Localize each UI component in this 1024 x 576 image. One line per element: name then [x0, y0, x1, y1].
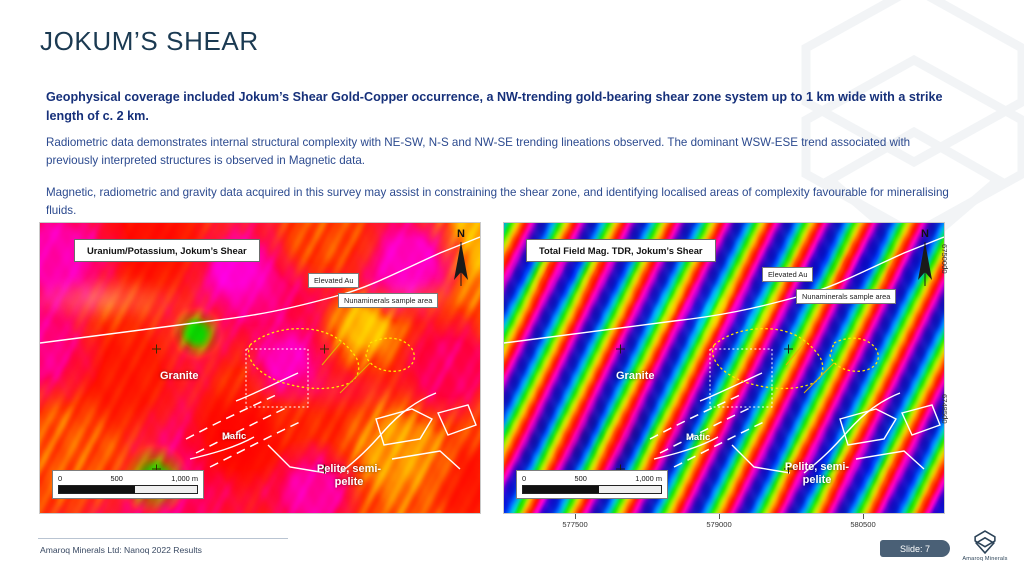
map-y-axis: 6750000 6748500 [943, 222, 967, 514]
map-title-label-left: Uranium/Potassium, Jokum’s Shear [74, 239, 260, 262]
y-tick-2: 6748500 [940, 394, 949, 424]
map-title-label-right: Total Field Mag. TDR, Jokum’s Shear [526, 239, 716, 262]
figure-radiometric: Uranium/Potassium, Jokum’s Shear Elevate… [39, 222, 479, 514]
scale-start-left: 0 [58, 474, 62, 483]
map-radiometric[interactable]: Uranium/Potassium, Jokum’s Shear Elevate… [39, 222, 481, 514]
annotation-elevated-au-left: Elevated Au [308, 273, 359, 288]
slide-number-badge: Slide: 7 [880, 540, 950, 557]
footer-text: Amaroq Minerals Ltd: Nanoq 2022 Results [40, 545, 202, 555]
x-tick-2: 579000 [706, 520, 731, 529]
scale-bar-left: 0 500 1,000 m [52, 470, 204, 499]
body-paragraph-1: Radiometric data demonstrates internal s… [46, 134, 956, 170]
scale-end-right: 1,000 m [635, 474, 662, 483]
body-paragraph-2: Magnetic, radiometric and gravity data a… [46, 184, 956, 220]
x-tick-3: 580500 [850, 520, 875, 529]
geo-label-mafic-left: Mafic [222, 430, 246, 443]
y-tick-1: 6750000 [940, 244, 949, 274]
geo-label-mafic-right: Mafic [686, 431, 710, 444]
page-title: JOKUM’S SHEAR [40, 26, 259, 57]
lead-paragraph: Geophysical coverage included Jokum’s Sh… [46, 88, 946, 126]
geo-label-pelite-right: Pelite, semi-pelite [776, 461, 858, 487]
x-tick-1: 577500 [562, 520, 587, 529]
map-x-axis: 577500 579000 580500 [503, 514, 943, 538]
north-arrow-left: N [448, 229, 474, 291]
scale-mid-right: 500 [575, 474, 587, 483]
map-magnetic[interactable]: Total Field Mag. TDR, Jokum’s Shear Elev… [503, 222, 945, 514]
annotation-elevated-au-right: Elevated Au [762, 267, 813, 282]
geo-label-granite-left: Granite [160, 370, 199, 383]
amaroq-logo-icon [972, 529, 998, 555]
amaroq-logo: Amaroq Minerals [955, 529, 1015, 569]
north-label-left: N [457, 229, 465, 240]
scale-start-right: 0 [522, 474, 526, 483]
annotation-nunaminerals-right: Nunaminerals sample area [796, 289, 896, 304]
annotation-nunaminerals-left: Nunaminerals sample area [338, 293, 438, 308]
scale-end-left: 1,000 m [171, 474, 198, 483]
north-label-right: N [921, 229, 929, 240]
slide-root: JOKUM’S SHEAR Geophysical coverage inclu… [0, 0, 1024, 576]
footer-divider [38, 538, 288, 539]
geo-label-granite-right: Granite [616, 370, 655, 383]
scale-bar-right: 0 500 1,000 m [516, 470, 668, 499]
north-arrow-right: N [912, 229, 938, 291]
logo-text: Amaroq Minerals [962, 556, 1007, 562]
figure-magnetic: Total Field Mag. TDR, Jokum’s Shear Elev… [503, 222, 943, 514]
geo-label-pelite-left: Pelite, semi-pelite [308, 463, 390, 489]
scale-mid-left: 500 [111, 474, 123, 483]
